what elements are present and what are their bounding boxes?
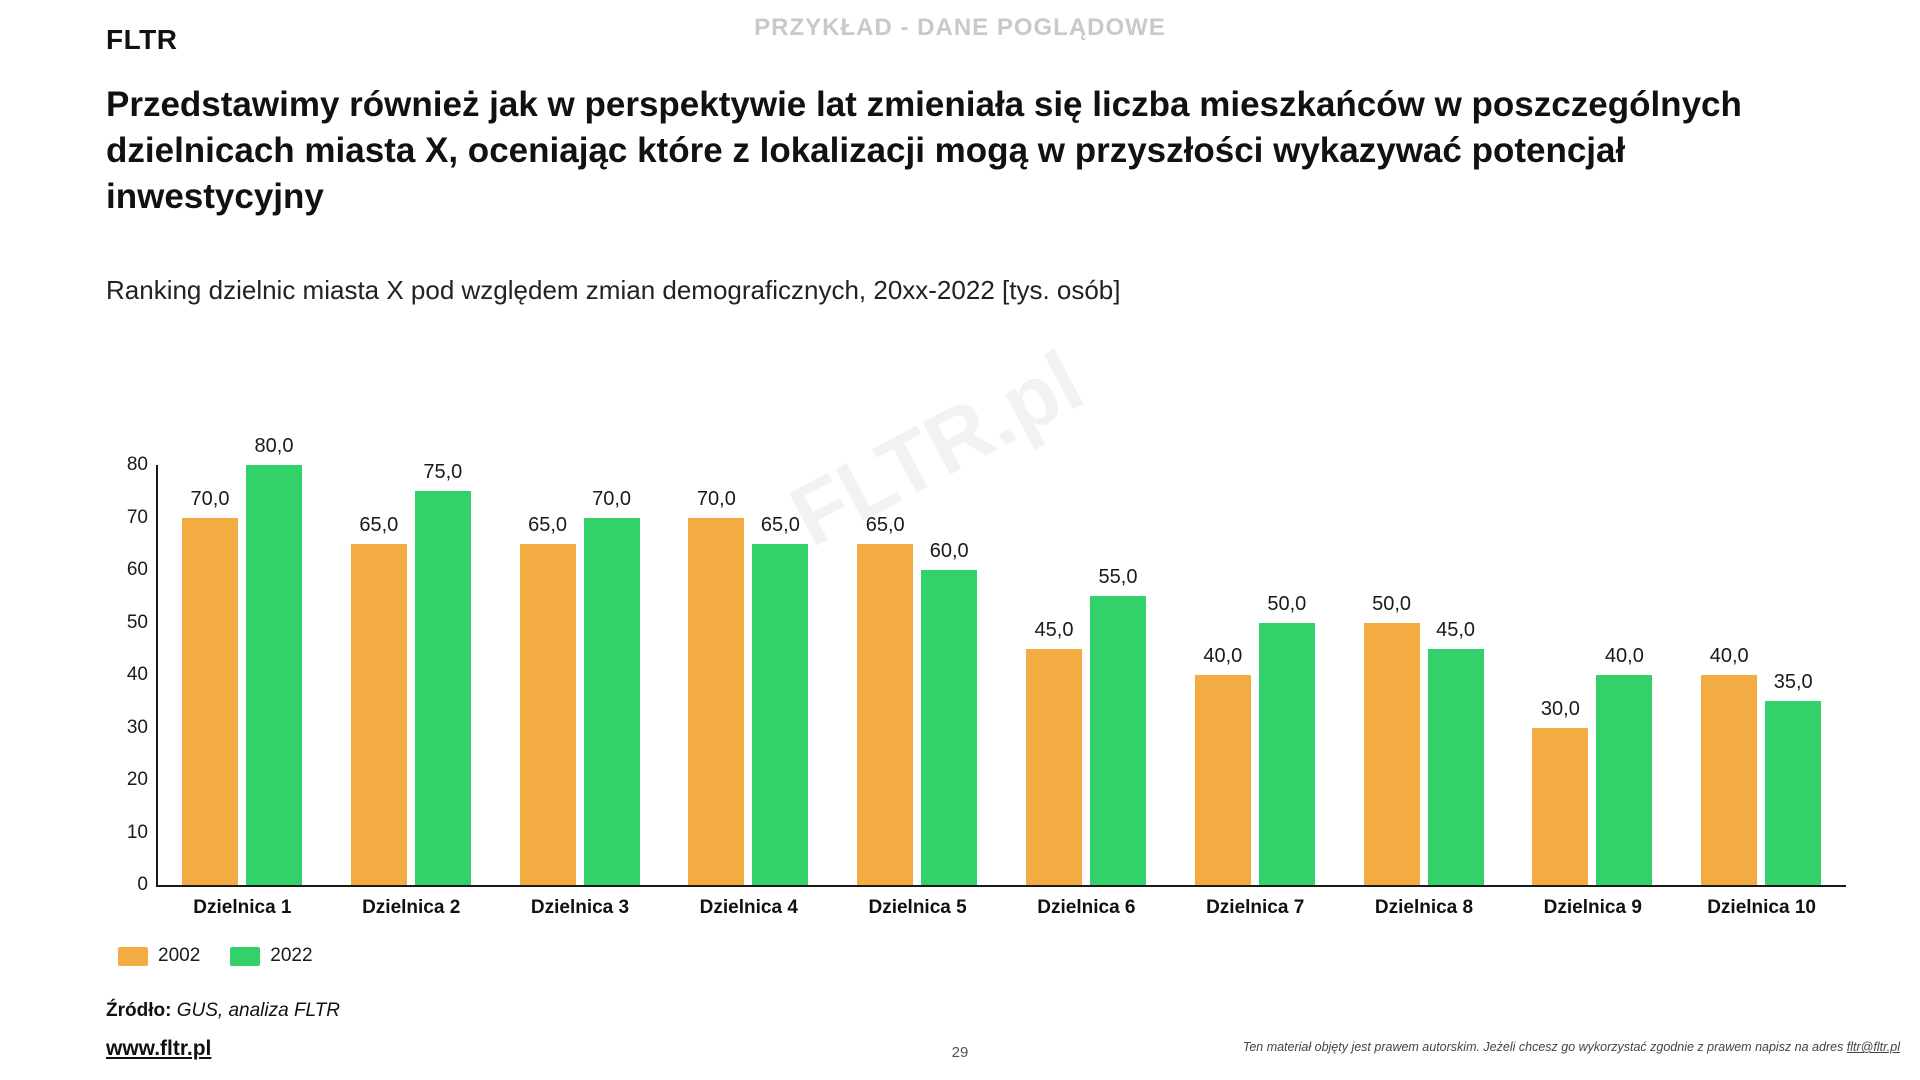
bar-value-label: 65,0 — [761, 514, 800, 537]
bar-value-label: 70,0 — [592, 488, 631, 511]
x-axis-category-label: Dzielnica 9 — [1508, 897, 1677, 919]
bar-value-label: 35,0 — [1774, 671, 1813, 694]
example-banner: PRZYKŁAD - DANE POGLĄDOWE — [0, 14, 1920, 42]
source-note: Źródło: GUS, analiza FLTR — [106, 1000, 340, 1022]
bar-value-label: 45,0 — [1035, 619, 1074, 642]
legend-item-2022[interactable]: 2022 — [230, 945, 312, 967]
bar-value-label: 55,0 — [1099, 566, 1138, 589]
bar-value-label: 40,0 — [1605, 645, 1644, 668]
bar-value-label: 30,0 — [1541, 698, 1580, 721]
x-axis-category-label: Dzielnica 6 — [1002, 897, 1171, 919]
bar-2022[interactable]: 55,0 — [1090, 596, 1146, 885]
y-axis-tick-label: 80 — [127, 454, 148, 476]
bar-2002[interactable]: 70,0 — [688, 518, 744, 886]
bar-group: 45,055,0Dzielnica 6 — [1002, 465, 1171, 885]
bar-group: 70,065,0Dzielnica 4 — [664, 465, 833, 885]
bar-2022[interactable]: 40,0 — [1596, 675, 1652, 885]
bar-group: 50,045,0Dzielnica 8 — [1340, 465, 1509, 885]
y-axis-tick-label: 60 — [127, 559, 148, 581]
y-axis: 01020304050607080 — [106, 465, 148, 885]
bar-value-label: 60,0 — [930, 540, 969, 563]
bar-2002[interactable]: 40,0 — [1195, 675, 1251, 885]
copyright-text: Ten materiał objęty jest prawem autorski… — [1243, 1040, 1847, 1054]
bar-value-label: 45,0 — [1436, 619, 1475, 642]
bar-2022[interactable]: 65,0 — [752, 544, 808, 885]
bar-value-label: 80,0 — [255, 435, 294, 458]
y-axis-tick-label: 50 — [127, 612, 148, 634]
x-axis-category-label: Dzielnica 3 — [496, 897, 665, 919]
bar-2022[interactable]: 60,0 — [921, 570, 977, 885]
legend-label: 2002 — [158, 945, 200, 967]
bar-group: 30,040,0Dzielnica 9 — [1508, 465, 1677, 885]
bar-2002[interactable]: 40,0 — [1701, 675, 1757, 885]
bar-2002[interactable]: 50,0 — [1364, 623, 1420, 886]
x-axis-line — [156, 885, 1846, 887]
bar-2002[interactable]: 65,0 — [351, 544, 407, 885]
legend-swatch-icon — [230, 947, 260, 966]
bar-2002[interactable]: 70,0 — [182, 518, 238, 886]
bar-value-label: 65,0 — [359, 514, 398, 537]
bar-value-label: 70,0 — [191, 488, 230, 511]
source-text: GUS, analiza FLTR — [177, 1000, 340, 1021]
bar-group: 65,075,0Dzielnica 2 — [327, 465, 496, 885]
bar-value-label: 75,0 — [423, 461, 462, 484]
x-axis-category-label: Dzielnica 4 — [664, 897, 833, 919]
chart-legend: 20022022 — [118, 945, 313, 967]
bar-value-label: 40,0 — [1203, 645, 1242, 668]
x-axis-category-label: Dzielnica 5 — [833, 897, 1002, 919]
bar-group: 65,060,0Dzielnica 5 — [833, 465, 1002, 885]
bar-value-label: 65,0 — [528, 514, 567, 537]
bar-2022[interactable]: 75,0 — [415, 491, 471, 885]
page-title: Przedstawimy również jak w perspektywie … — [106, 82, 1836, 221]
bar-value-label: 70,0 — [697, 488, 736, 511]
bar-2002[interactable]: 65,0 — [520, 544, 576, 885]
bar-group: 65,070,0Dzielnica 3 — [496, 465, 665, 885]
source-label: Źródło: — [106, 1000, 171, 1021]
bar-2022[interactable]: 50,0 — [1259, 623, 1315, 886]
chart-subtitle: Ranking dzielnic miasta X pod względem z… — [106, 275, 1121, 306]
bar-value-label: 65,0 — [866, 514, 905, 537]
y-axis-tick-label: 30 — [127, 717, 148, 739]
bar-2022[interactable]: 35,0 — [1765, 701, 1821, 885]
x-axis-category-label: Dzielnica 2 — [327, 897, 496, 919]
y-axis-tick-label: 40 — [127, 664, 148, 686]
x-axis-category-label: Dzielnica 8 — [1340, 897, 1509, 919]
plot-area: 70,080,0Dzielnica 165,075,0Dzielnica 265… — [158, 465, 1846, 885]
contact-email-link[interactable]: fltr@fltr.pl — [1847, 1040, 1900, 1054]
legend-label: 2022 — [270, 945, 312, 967]
bar-group: 40,035,0Dzielnica 10 — [1677, 465, 1846, 885]
bar-2002[interactable]: 45,0 — [1026, 649, 1082, 885]
bar-group: 40,050,0Dzielnica 7 — [1171, 465, 1340, 885]
bar-2002[interactable]: 30,0 — [1532, 728, 1588, 886]
bar-2022[interactable]: 70,0 — [584, 518, 640, 886]
bar-value-label: 50,0 — [1372, 593, 1411, 616]
y-axis-tick-label: 20 — [127, 769, 148, 791]
y-axis-tick-label: 70 — [127, 507, 148, 529]
x-axis-category-label: Dzielnica 1 — [158, 897, 327, 919]
bar-2022[interactable]: 45,0 — [1428, 649, 1484, 885]
y-axis-tick-label: 10 — [127, 822, 148, 844]
y-axis-tick-label: 0 — [137, 874, 148, 896]
bar-value-label: 50,0 — [1267, 593, 1306, 616]
copyright-note: Ten materiał objęty jest prawem autorski… — [1243, 1040, 1900, 1054]
bar-value-label: 40,0 — [1710, 645, 1749, 668]
legend-swatch-icon — [118, 947, 148, 966]
bar-2002[interactable]: 65,0 — [857, 544, 913, 885]
legend-item-2002[interactable]: 2002 — [118, 945, 200, 967]
x-axis-category-label: Dzielnica 10 — [1677, 897, 1846, 919]
bar-2022[interactable]: 80,0 — [246, 465, 302, 885]
bar-chart: 01020304050607080 70,080,0Dzielnica 165,… — [106, 465, 1846, 895]
x-axis-category-label: Dzielnica 7 — [1171, 897, 1340, 919]
bar-group: 70,080,0Dzielnica 1 — [158, 465, 327, 885]
